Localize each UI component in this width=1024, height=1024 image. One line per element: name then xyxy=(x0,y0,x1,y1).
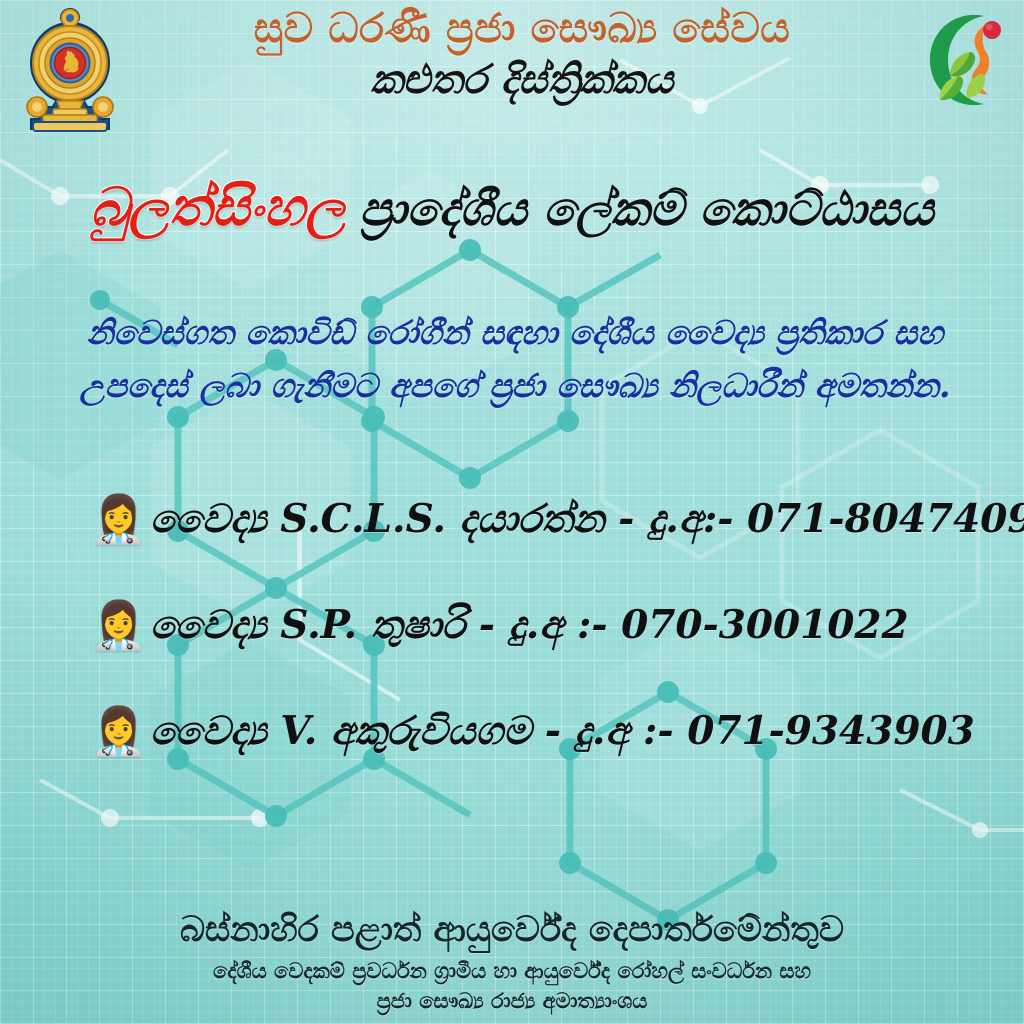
contact-row: 👩‍⚕️ වෛද්‍ය V. අකුරුවියගම - දු.අ :- 071-… xyxy=(90,678,984,784)
ministry-name: දේශීය වෙදකම් ප්‍රවර්ධන ග්‍රාමීය හා ආයුර්… xyxy=(0,957,1024,1016)
footer: බස්නාහිර පළාත් ආයුර්වේද දෙපාර්තමේන්තුව ද… xyxy=(0,911,1024,1016)
contact-row: 👩‍⚕️ වෛද්‍ය S.P. තුෂාරි - දු.අ :- 070-30… xyxy=(90,572,984,678)
header-titles: සුව ධරණී ප්‍රජා සෞඛ්‍ය සේවය කළුතර දිස්ත්… xyxy=(140,6,904,101)
poster-canvas: සුව ධරණී ප්‍රජා සෞඛ්‍ය සේවය කළුතර දිස්ත්… xyxy=(0,0,1024,1024)
division-name-suffix: ප්‍රාදේශීය ලේකම් කොට්ඨාසය xyxy=(359,182,933,237)
sri-lanka-national-emblem-icon xyxy=(9,3,131,135)
lead-paragraph: නිවෙස්ගත කොවිඩ් රෝගීන් සඳහා දේශීය වෛද්‍ය… xyxy=(46,306,984,413)
woman-health-worker-icon: 👩‍⚕️ xyxy=(90,496,150,542)
contact-list: 👩‍⚕️ වෛද්‍ය S.C.L.S. දයාරත්න - දු.අ:- 07… xyxy=(90,466,984,784)
woman-health-worker-icon: 👩‍⚕️ xyxy=(90,602,150,648)
contact-detail: වෛද්‍ය S.P. තුෂාරි - දු.අ :- 070-3001022 xyxy=(150,602,909,648)
ministry-line-1: දේශීය වෙදකම් ප්‍රවර්ධන ග්‍රාමීය හා ආයුර්… xyxy=(0,957,1024,986)
lead-line-2: උපදෙස් ලබා ගැනීමට අපගේ ප්‍රජා සෞඛ්‍ය නිල… xyxy=(46,359,984,412)
ministry-line-2: ප්‍රජා සෞඛ්‍ය රාජ්‍ය අමාත්‍යාංශය xyxy=(0,987,1024,1016)
lead-line-1: නිවෙස්ගත කොවිඩ් රෝගීන් සඳහා දේශීය වෛද්‍ය… xyxy=(46,306,984,359)
contact-row: 👩‍⚕️ වෛද්‍ය S.C.L.S. දයාරත්න - දු.අ:- 07… xyxy=(90,466,984,572)
woman-health-worker-icon: 👩‍⚕️ xyxy=(90,708,150,754)
district-title: කළුතර දිස්ත්‍රික්කය xyxy=(140,59,904,101)
contact-detail: වෛද්‍ය V. අකුරුවියගම - දු.අ :- 071-93439… xyxy=(150,708,975,754)
ayurveda-leaf-logo-icon xyxy=(912,4,1016,116)
division-name-highlight: බුලත්සිංහල xyxy=(90,176,345,238)
division-title: බුලත්සිංහලප්‍රාදේශීය ලේකම් කොට්ඨාසය xyxy=(0,176,1024,239)
contact-detail: වෛද්‍ය S.C.L.S. දයාරත්න - දු.අ:- 071-804… xyxy=(150,496,1024,542)
service-title: සුව ධරණී ප්‍රජා සෞඛ්‍ය සේවය xyxy=(140,6,904,50)
department-name: බස්නාහිර පළාත් ආයුර්වේද දෙපාර්තමේන්තුව xyxy=(0,911,1024,950)
